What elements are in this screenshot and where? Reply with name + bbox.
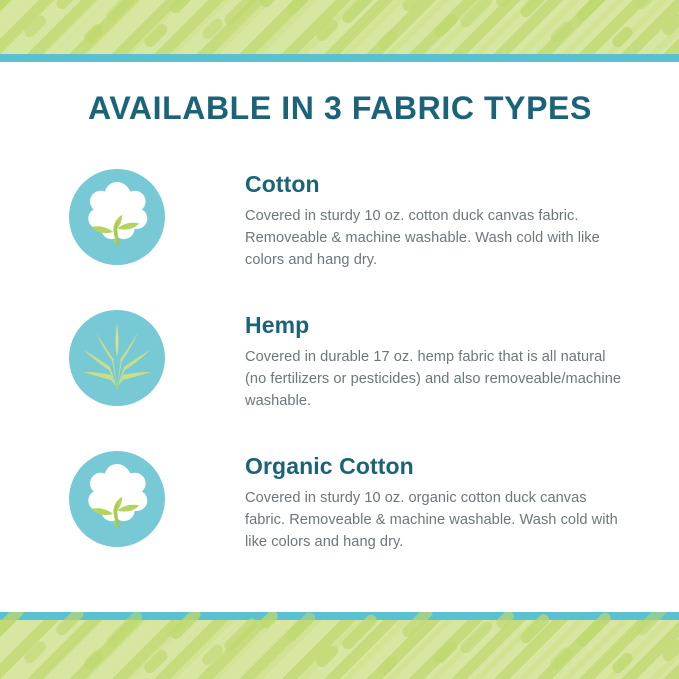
fabric-type-list: Cotton Covered in sturdy 10 oz. cotton d… xyxy=(0,168,679,553)
top-decorative-band xyxy=(0,0,679,62)
cotton-boll-icon xyxy=(68,450,166,548)
hemp-leaf-icon xyxy=(68,309,166,407)
cotton-boll-icon xyxy=(68,168,166,266)
page-title: AVAILABLE IN 3 FABRIC TYPES xyxy=(88,90,592,127)
bottom-band-pattern xyxy=(0,620,679,679)
top-band-pattern xyxy=(0,0,679,54)
fabric-text-hemp: Hemp Covered in durable 17 oz. hemp fabr… xyxy=(166,309,625,413)
infographic-page: AVAILABLE IN 3 FABRIC TYPES Cotton Cover… xyxy=(0,0,679,679)
fabric-description: Covered in sturdy 10 oz. cotton duck can… xyxy=(245,206,625,272)
bottom-band-rule xyxy=(0,612,679,620)
fabric-name: Hemp xyxy=(245,313,625,337)
fabric-name: Cotton xyxy=(245,172,625,196)
fabric-name: Organic Cotton xyxy=(245,454,625,478)
content-area: AVAILABLE IN 3 FABRIC TYPES Cotton Cover… xyxy=(0,62,679,612)
fabric-text-organic-cotton: Organic Cotton Covered in sturdy 10 oz. … xyxy=(166,450,625,554)
fabric-item-hemp: Hemp Covered in durable 17 oz. hemp fabr… xyxy=(0,309,679,413)
bottom-decorative-band xyxy=(0,612,679,679)
fabric-item-cotton: Cotton Covered in sturdy 10 oz. cotton d… xyxy=(0,168,679,272)
fabric-description: Covered in sturdy 10 oz. organic cotton … xyxy=(245,488,625,554)
fabric-description: Covered in durable 17 oz. hemp fabric th… xyxy=(245,347,625,413)
top-band-rule xyxy=(0,54,679,62)
fabric-text-cotton: Cotton Covered in sturdy 10 oz. cotton d… xyxy=(166,168,625,272)
fabric-item-organic-cotton: Organic Cotton Covered in sturdy 10 oz. … xyxy=(0,450,679,554)
